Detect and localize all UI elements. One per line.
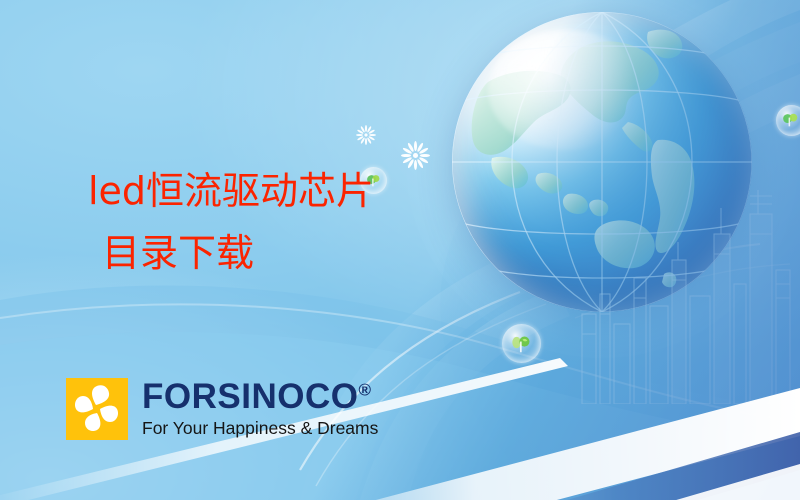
brand-name: FORSINOCO® — [142, 380, 378, 414]
eco-bubble-edge — [776, 105, 800, 136]
brand-logo[interactable]: FORSINOCO® For Your Happiness & Dreams — [66, 378, 378, 440]
eco-bubble-large — [502, 324, 541, 363]
sparkle-flower-1 — [356, 125, 376, 145]
brand-name-text: FORSINOCO — [142, 377, 358, 416]
headline-line-1: led恒流驱动芯片 — [88, 169, 374, 213]
forsinoco-pinwheel-mark — [66, 378, 128, 440]
city-skyline-silhouette — [570, 174, 800, 404]
logo-wordmark: FORSINOCO® For Your Happiness & Dreams — [142, 380, 378, 439]
brand-tagline: For Your Happiness & Dreams — [142, 417, 378, 439]
headline: led恒流驱动芯片 目录下载 — [88, 160, 508, 284]
promo-banner: led恒流驱动芯片 目录下载 FORSINOCO® For Your Happi… — [0, 0, 800, 500]
headline-line-2: 目录下载 — [88, 222, 508, 284]
registered-trademark-icon: ® — [358, 380, 371, 399]
